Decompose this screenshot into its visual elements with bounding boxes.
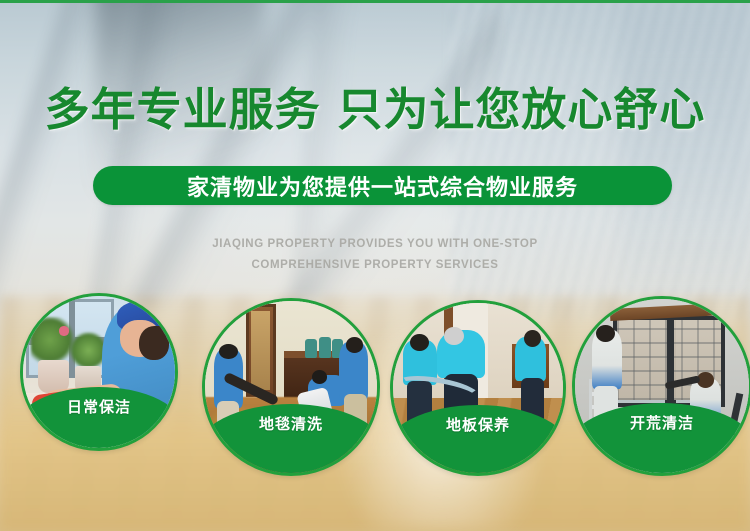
service-caption-band-2: 地毯清洗 bbox=[202, 404, 380, 476]
service-caption-band-1: 日常保洁 bbox=[20, 387, 178, 451]
service-item-daily-cleaning[interactable]: 日常保洁 bbox=[20, 293, 178, 451]
service-label-2: 地毯清洗 bbox=[259, 413, 323, 434]
service-item-rough-cleaning[interactable]: 开荒清洁 bbox=[572, 296, 750, 476]
service-label-1: 日常保洁 bbox=[67, 396, 131, 417]
service-caption-band-4: 开荒清洁 bbox=[572, 403, 750, 476]
service-caption-band-3: 地板保养 bbox=[390, 405, 566, 476]
service-item-carpet-cleaning[interactable]: 地毯清洗 bbox=[202, 298, 380, 476]
service-label-3: 地板保养 bbox=[446, 414, 510, 435]
banner-stage: 多年专业服务 只为让您放心舒心 家清物业为您提供一站式综合物业服务 JIAQIN… bbox=[0, 0, 750, 531]
service-item-floor-maintenance[interactable]: 地板保养 bbox=[390, 300, 566, 476]
service-circle-row: 日常保洁 地毯清洗 bbox=[0, 0, 750, 531]
service-label-4: 开荒清洁 bbox=[630, 412, 694, 433]
